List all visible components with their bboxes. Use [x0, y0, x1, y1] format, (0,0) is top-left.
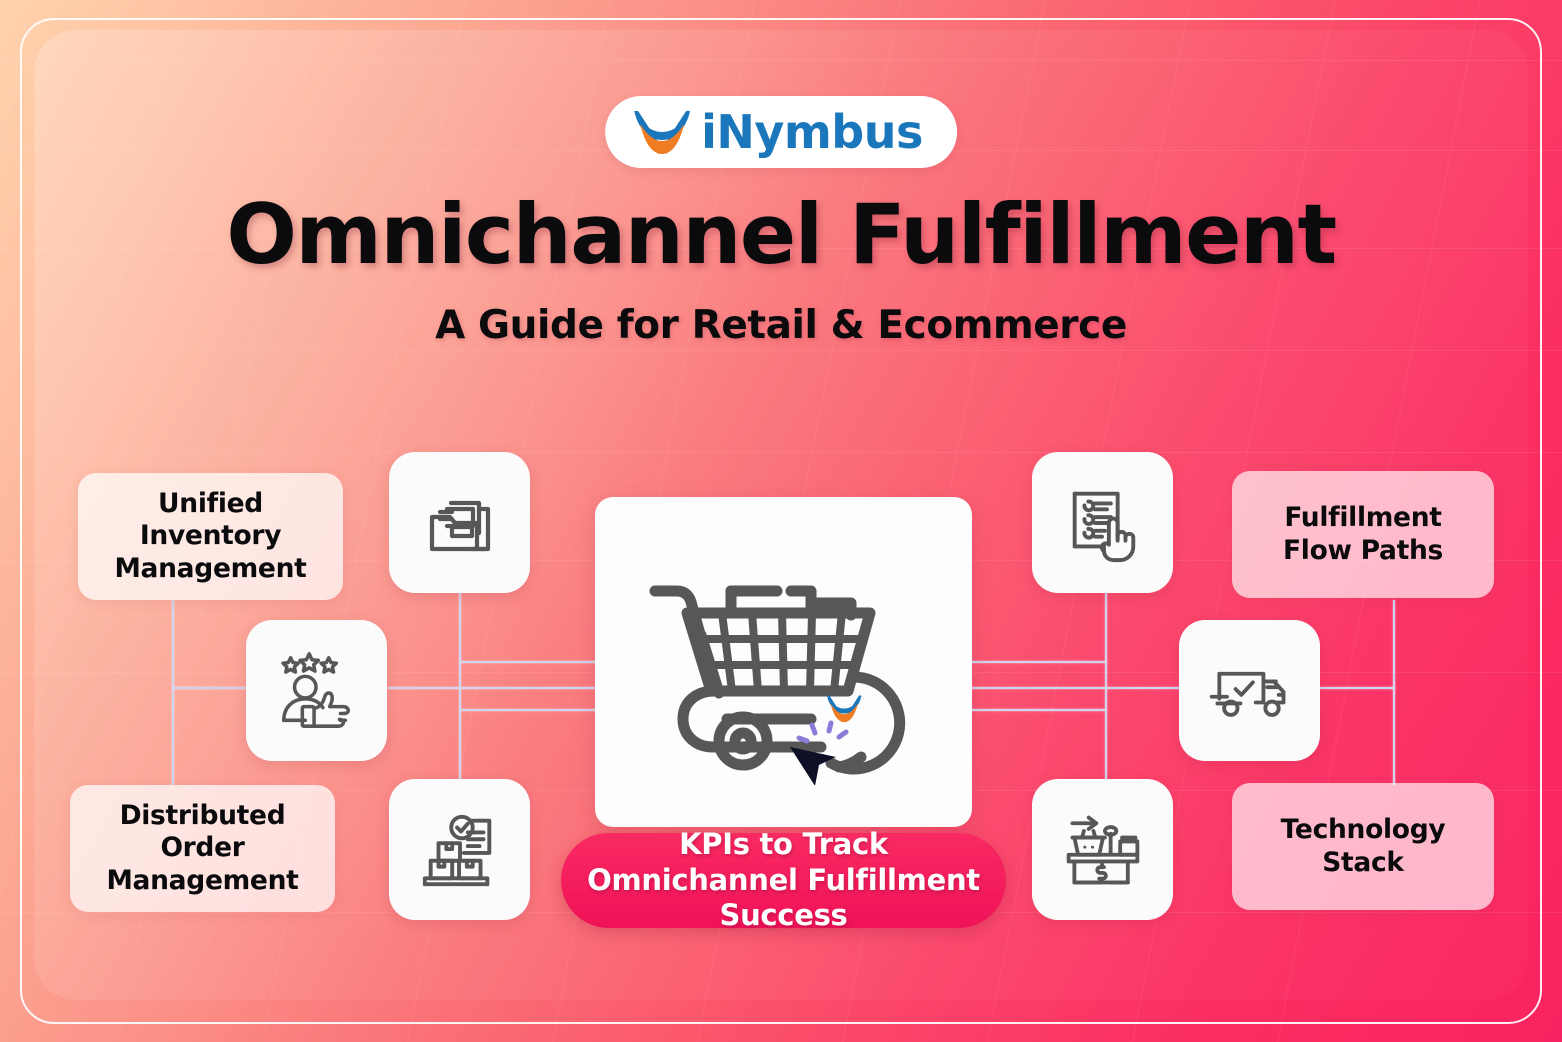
- icon-card-verified-packages[interactable]: [389, 779, 530, 920]
- label-text: Fulfillment Flow Paths: [1246, 502, 1480, 567]
- inymbus-butterfly-mark-icon: [631, 107, 693, 157]
- label-card-unified-inventory-management[interactable]: Unified Inventory Management: [78, 473, 343, 600]
- checklist-tap-icon: [1061, 480, 1145, 566]
- page-title: Omnichannel Fulfillment: [0, 186, 1562, 283]
- center-hub-card[interactable]: [595, 497, 972, 827]
- label-text: Unified Inventory Management: [92, 488, 329, 585]
- connector-hub-to-checklist: [968, 661, 1107, 663]
- label-card-distributed-order-management[interactable]: Distributed Order Management: [70, 785, 335, 912]
- connector-truck-to-right-outer: [1316, 687, 1395, 689]
- icon-card-checkout-counter[interactable]: [1032, 779, 1173, 920]
- shopping-cart-click-icon: [639, 535, 929, 790]
- verified-packages-icon: [417, 807, 503, 893]
- label-card-fulfillment-flow-paths[interactable]: Fulfillment Flow Paths: [1232, 471, 1494, 598]
- icon-card-delivery-truck[interactable]: [1179, 620, 1320, 761]
- customer-rating-thumbsup-icon: [272, 648, 362, 734]
- connector-hub-to-counter: [968, 709, 1107, 711]
- connector-rating-to-hub: [388, 687, 599, 689]
- connector-left-outer-vertical: [172, 600, 174, 785]
- label-text: Technology Stack: [1246, 814, 1480, 879]
- folder-files-icon: [418, 481, 502, 565]
- delivery-truck-check-icon: [1204, 656, 1296, 726]
- page-subtitle: A Guide for Retail & Ecommerce: [0, 303, 1562, 348]
- label-card-technology-stack[interactable]: Technology Stack: [1232, 783, 1494, 910]
- connector-hub-to-truck: [968, 687, 1180, 689]
- infographic-canvas: iNymbus Omnichannel Fulfillment A Guide …: [0, 0, 1562, 1042]
- brand-logo-pill[interactable]: iNymbus: [605, 96, 957, 168]
- icon-card-checklist-tap[interactable]: [1032, 452, 1173, 593]
- connector-left-outer-to-rating: [172, 687, 250, 689]
- brand-name: iNymbus: [701, 109, 923, 155]
- center-hub-caption-pill[interactable]: KPIs to Track Omnichannel Fulfillment Su…: [561, 833, 1006, 928]
- hub-caption-text: KPIs to Track Omnichannel Fulfillment Su…: [579, 827, 988, 933]
- label-text: Distributed Order Management: [84, 800, 321, 897]
- icon-card-folder-files[interactable]: [389, 452, 530, 593]
- icon-card-customer-rating[interactable]: [246, 620, 387, 761]
- connector-right-outer-vertical: [1393, 600, 1395, 785]
- connector-packages-to-hub: [459, 709, 599, 711]
- connector-folders-to-hub: [459, 661, 599, 663]
- checkout-counter-icon: [1059, 808, 1147, 892]
